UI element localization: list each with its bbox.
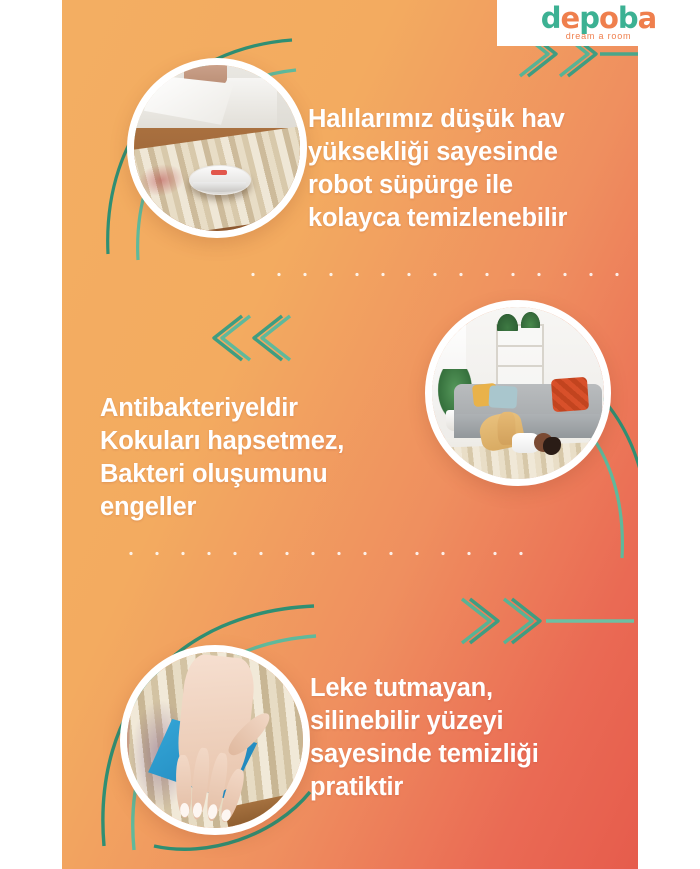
arrow-left-2	[180, 312, 448, 364]
arrow-right-3	[354, 595, 634, 647]
feature-2-line-4: engeller	[100, 491, 344, 524]
feature-1-line-4: kolayca temizlenebilir	[308, 202, 567, 235]
photo-robot-vacuum	[127, 58, 307, 238]
feature-text-2: Antibakteriyeldir Kokuları hapsetmez, Ba…	[100, 392, 344, 525]
feature-2-line-3: Bakteri oluşumunu	[100, 458, 344, 491]
logo-tagline: dream a room	[566, 31, 632, 41]
feature-1-line-1: Halılarımız düşük hav	[308, 103, 567, 136]
infographic-poster: Halılarımız düşük hav yüksekliği sayesin…	[0, 0, 700, 869]
feature-1-line-2: yüksekliği sayesinde	[308, 136, 567, 169]
feature-3-line-2: silinebilir yüzeyi	[310, 705, 539, 738]
feature-2-line-1: Antibakteriyeldir	[100, 392, 344, 425]
logo-letter-a: a	[638, 1, 657, 35]
feature-text-1: Halılarımız düşük hav yüksekliği sayesin…	[308, 103, 567, 236]
feature-3-line-1: Leke tutmayan,	[310, 672, 539, 705]
gradient-background: Halılarımız düşük hav yüksekliği sayesin…	[62, 0, 638, 869]
feature-2-line-2: Kokuları hapsetmez,	[100, 425, 344, 458]
dotted-divider-1	[240, 272, 638, 277]
logo-letter-d: d	[541, 1, 561, 35]
logo-wordmark: depoba	[541, 5, 656, 32]
brand-logo[interactable]: depoba dream a room	[497, 0, 700, 46]
feature-text-3: Leke tutmayan, silinebilir yüzeyi sayesi…	[310, 672, 539, 805]
photo-wipe-cloth	[120, 645, 310, 835]
feature-3-line-4: pratiktir	[310, 771, 539, 804]
feature-1-line-3: robot süpürge ile	[308, 169, 567, 202]
photo-living-room	[425, 300, 611, 486]
feature-3-line-3: sayesinde temizliği	[310, 738, 539, 771]
